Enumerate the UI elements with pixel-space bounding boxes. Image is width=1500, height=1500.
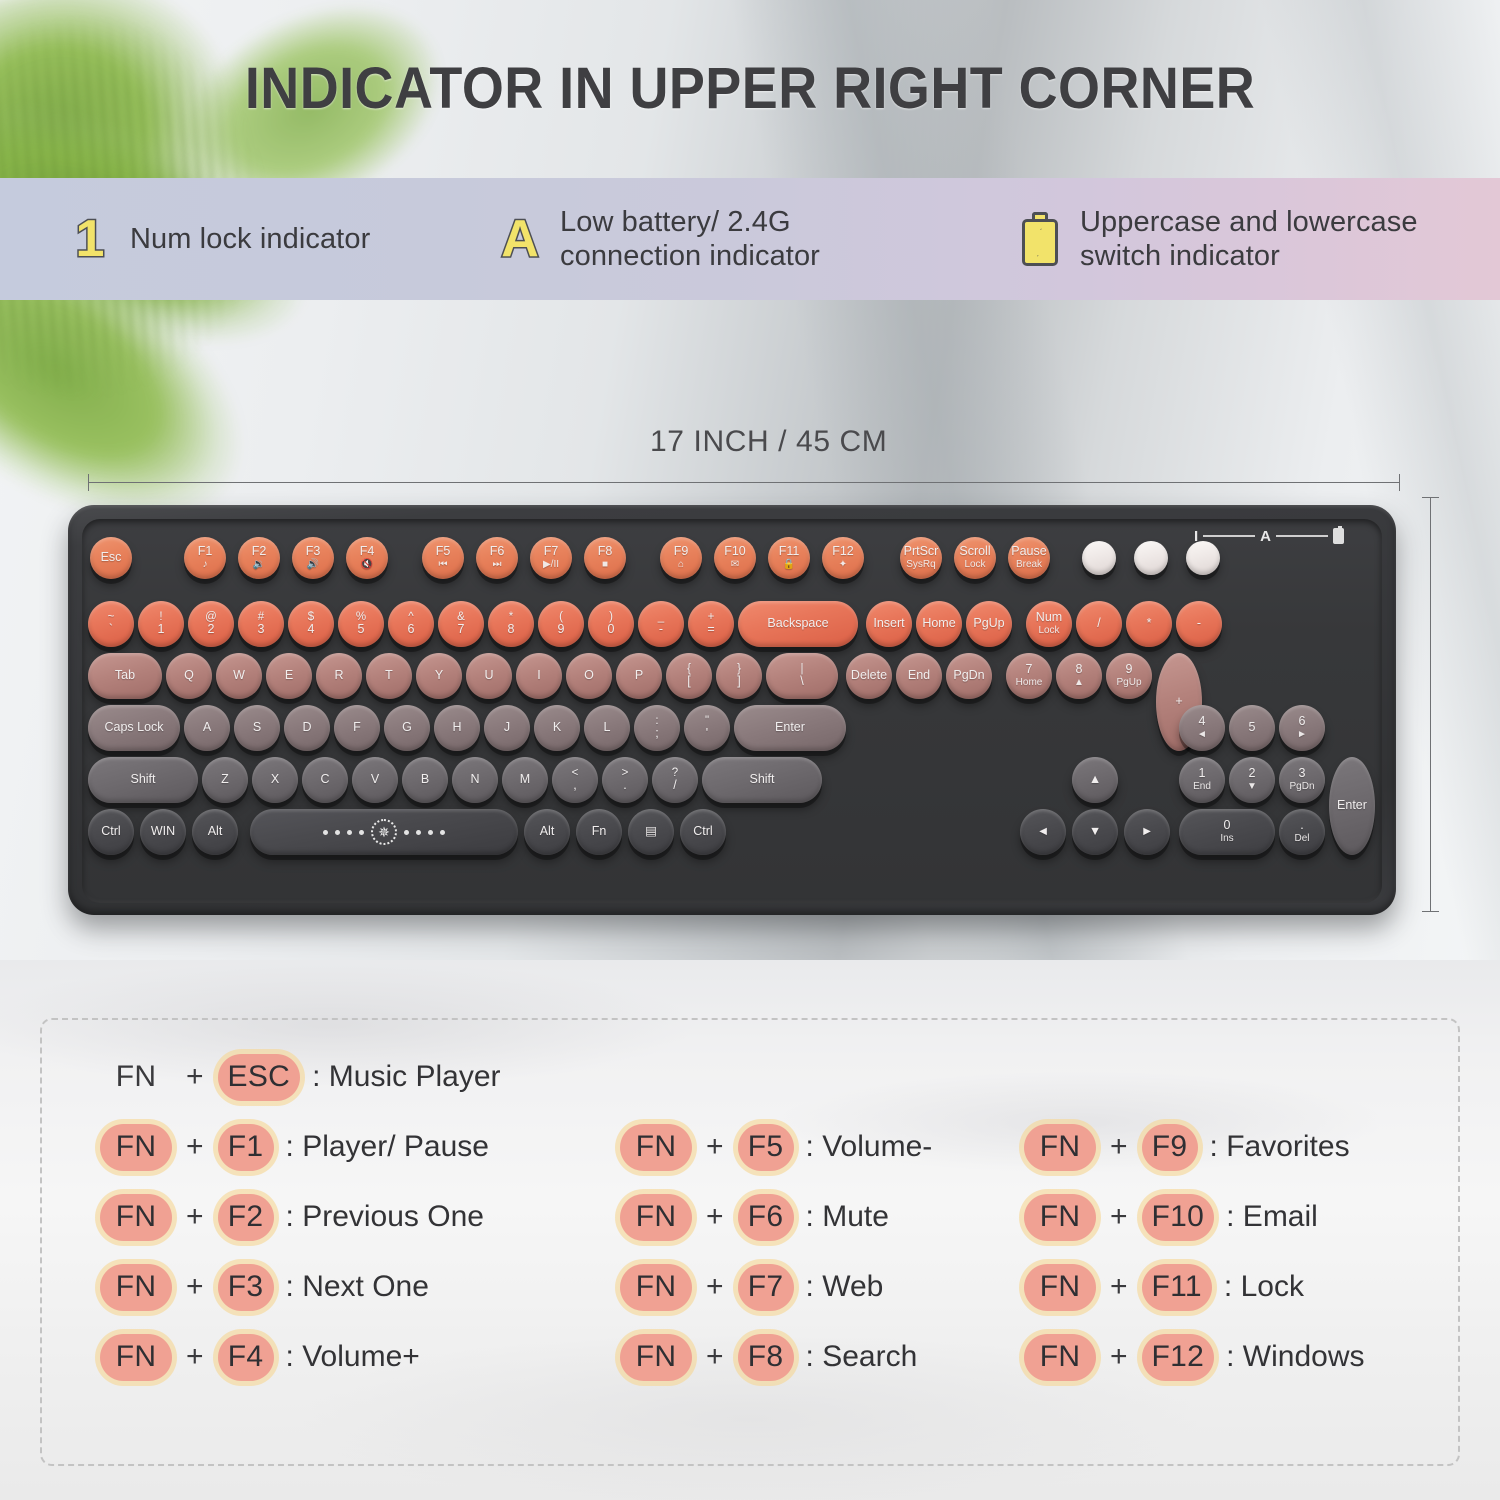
key-r[interactable]: R [316,653,362,699]
key-caps-lock[interactable]: Caps Lock [88,705,180,751]
shortcut-row: FN+F11: Lock [1024,1252,1365,1322]
key-f8[interactable]: F8■ [584,537,626,579]
key-6[interactable]: ^6 [388,601,434,647]
key-label: 4 [308,623,315,637]
key-num[interactable]: NumLock [1026,601,1072,647]
key-enter[interactable]: Enter [734,705,846,751]
key-u[interactable]: U [466,653,512,699]
shortcut-second-key[interactable]: ESC [218,1054,301,1101]
led-indicator-3[interactable] [1186,541,1220,575]
key-sub-legend: 🔉 [253,560,265,571]
key-label: F11 [779,545,800,559]
shortcut-plus-sign: + [706,1340,724,1374]
key-f6[interactable]: F6⏭ [476,537,518,579]
key-f11[interactable]: F11🔒 [768,537,810,579]
key-7[interactable]: &7 [438,601,484,647]
key-f3[interactable]: F3🔊 [292,537,334,579]
key-win[interactable]: WIN [140,809,186,855]
key-numpad-decimal[interactable]: .Del [1279,809,1325,855]
key-label: Shift [749,773,774,787]
brand-emblem-icon: ✵ [371,819,397,845]
key-c[interactable]: C [302,757,348,803]
shortcut-fn-key[interactable]: FN [100,1124,172,1171]
key-sub-legend: ■ [602,560,608,571]
key-sub-legend: Lock [1038,626,1059,637]
key-sub-legend: Lock [964,560,985,571]
key-label: Enter [775,721,805,735]
key-label: 8 [1076,663,1083,677]
led-indicator-2[interactable] [1134,541,1168,575]
key--[interactable]: :; [634,705,680,751]
shortcut-fn-key[interactable]: FN [620,1194,692,1241]
shortcut-fn-key[interactable]: FN [620,1124,692,1171]
key-sub-legend: ► [1297,730,1307,741]
fn-shortcut-panel: FN+ESC: Music PlayerFN+F1: Player/ Pause… [40,1018,1460,1466]
key-pause[interactable]: PauseBreak [1008,537,1050,579]
key-label: N [470,773,479,787]
key-ctrl[interactable]: Ctrl [88,809,134,855]
key-label: H [452,721,461,735]
key--[interactable]: _- [638,601,684,647]
key--[interactable]: <, [552,757,598,803]
key-label: 9 [1126,663,1133,677]
key-b[interactable]: B [402,757,448,803]
key-label: Caps Lock [104,721,163,735]
key-label: End [908,669,930,683]
key-7[interactable]: 7Home [1006,653,1052,699]
shortcut-plus-sign: + [186,1270,204,1304]
key-n[interactable]: N [452,757,498,803]
key-label: ▼ [1089,825,1101,839]
key-sub-legend: ✉ [731,560,739,571]
shortcut-second-key[interactable]: F7 [738,1264,794,1311]
battery-shape [1022,212,1058,266]
key-arrow-left[interactable]: ◄ [1020,809,1066,855]
shortcut-second-key[interactable]: F3 [218,1264,274,1311]
shortcut-row: FN+F8: Search [620,1322,932,1392]
key-label: 0 [608,623,615,637]
key-4[interactable]: $4 [288,601,334,647]
key-x[interactable]: X [252,757,298,803]
key-sub-legend: Del [1294,834,1309,845]
key-o[interactable]: O [566,653,612,699]
key-1[interactable]: 1End [1179,757,1225,803]
key-8[interactable]: *8 [488,601,534,647]
key-f2[interactable]: F2🔉 [238,537,280,579]
key-label: F5 [436,545,451,559]
key-3[interactable]: #3 [238,601,284,647]
key-pgup[interactable]: PgUp [966,601,1012,647]
key-numpad-enter[interactable]: Enter [1329,757,1375,855]
key-label: [ [687,675,690,689]
key-label: F1 [198,545,213,559]
shortcut-plus-sign: + [1110,1130,1128,1164]
key-f5[interactable]: F5⏮ [422,537,464,579]
key-label: Alt [208,825,223,839]
shortcut-row: FN+F12: Windows [1024,1322,1365,1392]
key-label: P [635,669,643,683]
key-sub-legend: ⌂ [678,560,684,571]
key-f10[interactable]: F10✉ [714,537,756,579]
key-label: 9 [558,623,565,637]
key-label: - [659,623,663,637]
key-label: D [302,721,311,735]
key--[interactable]: |\ [766,653,838,699]
letter-a-icon: A [492,213,548,265]
key-home[interactable]: Home [916,601,962,647]
key-k[interactable]: K [534,705,580,751]
key-d[interactable]: D [284,705,330,751]
shortcut-row: FN+F3: Next One [100,1252,501,1322]
shortcut-plus-sign: + [186,1060,204,1094]
key-label: A [203,721,211,735]
key-label: WIN [151,825,175,839]
key-sub-legend: ▲ [1074,678,1084,689]
key-sub-legend: ◄ [1197,730,1207,741]
key-label: F4 [360,545,375,559]
key-label: ' [706,727,708,741]
key-label: V [371,773,379,787]
shortcut-description: : Volume+ [286,1340,420,1374]
key--[interactable]: ~` [88,601,134,647]
key-esc[interactable]: Esc [90,537,132,579]
key-label: Backspace [767,617,828,631]
key-l[interactable]: L [584,705,630,751]
shortcut-fn-key[interactable]: FN [100,1054,172,1101]
battery-bolt-icon [1012,212,1068,266]
shortcut-second-key[interactable]: F12 [1142,1334,1215,1381]
key-label: 5 [1249,721,1256,735]
shortcut-fn-key[interactable]: FN [100,1264,172,1311]
key-label: S [253,721,261,735]
key-m[interactable]: M [502,757,548,803]
key-sub-legend: ⏭ [493,560,502,571]
shortcut-plus-sign: + [186,1130,204,1164]
key-f9[interactable]: F9⌂ [660,537,702,579]
shortcut-plus-sign: + [186,1340,204,1374]
key-label: M [520,773,530,787]
key-prtscr[interactable]: PrtScrSysRq [900,537,942,579]
key-label: U [484,669,493,683]
shortcut-plus-sign: + [706,1130,724,1164]
key-label: Z [221,773,229,787]
key-label: L [604,721,611,735]
key-label: PgDn [953,669,984,683]
key-sub-legend: 🔊 [307,560,319,571]
key-tab[interactable]: Tab [88,653,162,699]
key-scroll[interactable]: ScrollLock [954,537,996,579]
key--[interactable]: "' [684,705,730,751]
key-label: Num [1036,611,1062,625]
key-label: Alt [540,825,555,839]
legend-item-label: Uppercase and lowercase switch indicator [1080,205,1418,273]
shortcut-fn-key[interactable]: FN [1024,1334,1096,1381]
key-f7[interactable]: F7▶/II [530,537,572,579]
shortcut-plus-sign: + [1110,1200,1128,1234]
shortcut-second-key[interactable]: F6 [738,1194,794,1241]
shortcut-fn-key[interactable]: FN [1024,1264,1096,1311]
key-label: F2 [252,545,267,559]
key-sub-legend: ⏮ [439,560,448,571]
key-5[interactable]: 5 [1229,705,1275,751]
shortcut-description: : Lock [1224,1270,1304,1304]
key-label: F10 [724,545,746,559]
key-2[interactable]: @2 [188,601,234,647]
key-j[interactable]: J [484,705,530,751]
key-label: W [233,669,245,683]
key-label: Tab [115,669,135,683]
key--[interactable]: {[ [666,653,712,699]
key-8[interactable]: 8▲ [1056,653,1102,699]
shortcut-description: : Web [806,1270,884,1304]
shortcut-second-key[interactable]: F4 [218,1334,274,1381]
shortcut-second-key[interactable]: F8 [738,1334,794,1381]
key-label: Enter [1337,799,1367,813]
key-arrow-up[interactable]: ▲ [1072,757,1118,803]
key--[interactable]: * [1126,601,1172,647]
key-label: PgUp [973,617,1004,631]
key-arrow-right[interactable]: ► [1124,809,1170,855]
indicator-mark-a: A [1260,528,1271,545]
key-2[interactable]: 2▼ [1229,757,1275,803]
key-fn[interactable]: Fn [576,809,622,855]
num-lock-1-icon: 1 [62,213,118,265]
key-label: ; [655,727,658,741]
key-e[interactable]: E [266,653,312,699]
key-sub-legend: ♪ [203,560,208,571]
key--[interactable]: += [688,601,734,647]
shortcut-plus-sign: + [706,1200,724,1234]
key-label: ▲ [1089,773,1101,787]
key-backspace[interactable]: Backspace [738,601,858,647]
shortcut-column-2: FN+F5: Volume-FN+F6: MuteFN+F7: WebFN+F8… [620,1112,932,1392]
shortcut-fn-key[interactable]: FN [100,1194,172,1241]
key-label: ` [109,623,113,637]
key-y[interactable]: Y [416,653,462,699]
legend-item-label: Low battery/ 2.4G connection indicator [560,205,820,273]
key-label: 7 [1026,663,1033,677]
key-label: Pause [1011,545,1046,559]
key-p[interactable]: P [616,653,662,699]
key-end[interactable]: End [896,653,942,699]
key-label: 0 [1224,819,1231,833]
key--[interactable]: ?/ [652,757,698,803]
shortcut-plus-sign: + [1110,1270,1128,1304]
key-label: Home [922,617,955,631]
key-label: . [1300,819,1303,833]
key-label: C [320,773,329,787]
key-label: 7 [458,623,465,637]
width-dimension-label: 17 INCH / 45 CM [650,425,887,459]
key-label: F12 [832,545,854,559]
key-f4[interactable]: F4🔇 [346,537,388,579]
keyboard-plate: I A EscF1♪F2🔉F3🔊F4🔇F5⏮F6⏭F7▶/IIF8■F9⌂F10… [82,519,1382,903]
key-label: , [573,779,576,793]
key-sub-legend: ▶/II [543,560,559,571]
shortcut-second-key[interactable]: F2 [218,1194,274,1241]
spacebar-dots-right [404,830,445,835]
key-alt[interactable]: Alt [524,809,570,855]
shortcut-description: : Music Player [312,1060,500,1094]
shortcut-row: FN+F1: Player/ Pause [100,1112,501,1182]
shortcut-plus-sign: + [1110,1340,1128,1374]
key-v[interactable]: V [352,757,398,803]
key-a[interactable]: A [184,705,230,751]
shortcut-column-1: FN+ESC: Music PlayerFN+F1: Player/ Pause… [100,1042,501,1392]
key-numpad-0[interactable]: 0Ins [1179,809,1275,855]
key-0[interactable]: )0 [588,601,634,647]
key-delete[interactable]: Delete [846,653,892,699]
shortcut-row: FN+F4: Volume+ [100,1322,501,1392]
key-label: E [285,669,293,683]
shortcut-fn-key[interactable]: FN [100,1334,172,1381]
key-label: B [421,773,429,787]
key-shift[interactable]: Shift [88,757,198,803]
shortcut-row: FN+F7: Web [620,1252,932,1322]
key-label: ▤ [645,825,657,839]
key-label: Scroll [959,545,990,559]
key-5[interactable]: %5 [338,601,384,647]
key-6[interactable]: 6► [1279,705,1325,751]
key-label: F3 [306,545,321,559]
key-ctrl[interactable]: Ctrl [680,809,726,855]
key-q[interactable]: Q [166,653,212,699]
key-alt[interactable]: Alt [192,809,238,855]
key--[interactable]: >. [602,757,648,803]
shortcut-column-3: FN+F9: FavoritesFN+F10: EmailFN+F11: Loc… [1024,1112,1365,1392]
key-sub-legend: 🔒 [783,560,795,571]
key-1[interactable]: !1 [138,601,184,647]
key-g[interactable]: G [384,705,430,751]
key-s[interactable]: S [234,705,280,751]
key--[interactable]: ▤ [628,809,674,855]
key-h[interactable]: H [434,705,480,751]
key-label: X [271,773,279,787]
key-label: Fn [592,825,607,839]
key-label: ] [737,675,740,689]
indicator-connector-line [1203,535,1255,537]
key--[interactable]: / [1076,601,1122,647]
key-sub-legend: Break [1016,560,1042,571]
spacebar-dots-left [323,830,364,835]
shortcut-second-key[interactable]: F10 [1142,1194,1215,1241]
key-label: T [385,669,393,683]
key-sub-legend: 🔇 [361,560,373,571]
key-f12[interactable]: F12✦ [822,537,864,579]
key-label: F9 [674,545,689,559]
shortcut-description: : Next One [286,1270,429,1304]
key-label: 8 [508,623,515,637]
key-label: I [537,669,540,683]
key-label: K [553,721,561,735]
shortcut-plus-sign: + [706,1270,724,1304]
shortcut-second-key[interactable]: F9 [1142,1124,1198,1171]
shortcut-description: : Mute [806,1200,889,1234]
legend-item-case-switch: Uppercase and lowercase switch indicator [1012,205,1418,273]
key-label: / [1097,617,1100,631]
key-label: ► [1141,825,1153,839]
shortcut-fn-key[interactable]: FN [1024,1124,1096,1171]
shortcut-row: FN+F6: Mute [620,1182,932,1252]
key-label: G [402,721,412,735]
width-dimension-line [88,482,1400,483]
shortcut-second-key[interactable]: F5 [738,1124,794,1171]
shortcut-description: : Windows [1226,1340,1364,1374]
key-label: Shift [130,773,155,787]
key-f1[interactable]: F1♪ [184,537,226,579]
key-label: 2 [1249,767,1256,781]
keyboard-indicator-marks: I A [1194,525,1344,547]
shortcut-second-key[interactable]: F1 [218,1124,274,1171]
shortcut-description: : Email [1226,1200,1318,1234]
led-indicator-1[interactable] [1082,541,1116,575]
key-label: Insert [873,617,904,631]
battery-icon [1333,528,1344,544]
key-label: ◄ [1037,825,1049,839]
key-t[interactable]: T [366,653,412,699]
key-label: Ctrl [101,825,120,839]
key-label: + [1175,695,1182,709]
key-label: Y [435,669,443,683]
key-label: * [1147,617,1152,631]
key-label: Q [184,669,194,683]
shortcut-row: FN+F9: Favorites [1024,1112,1365,1182]
key-9[interactable]: 9PgUp [1106,653,1152,699]
shortcut-row: FN+F5: Volume- [620,1112,932,1182]
key-f[interactable]: F [334,705,380,751]
key-sub-legend: ▼ [1247,782,1257,793]
key-insert[interactable]: Insert [866,601,912,647]
key-arrow-down[interactable]: ▼ [1072,809,1118,855]
key-label: O [584,669,594,683]
key-label: F8 [598,545,613,559]
key-space[interactable]: ✵ [250,809,518,855]
key-3[interactable]: 3PgDn [1279,757,1325,803]
key-4[interactable]: 4◄ [1179,705,1225,751]
key--[interactable]: }] [716,653,762,699]
key-z[interactable]: Z [202,757,248,803]
key-sub-legend: Home [1016,678,1043,689]
key-sub-legend: End [1193,782,1211,793]
legend-glyph: A [501,213,539,265]
shortcut-description: : Volume- [806,1130,933,1164]
key-w[interactable]: W [216,653,262,699]
key-label: J [504,721,510,735]
key-i[interactable]: I [516,653,562,699]
key-label: 1 [158,623,165,637]
key-label: PrtScr [904,545,939,559]
shortcut-description: : Favorites [1210,1130,1350,1164]
key-label: . [623,779,626,793]
key-sub-legend: PgDn [1289,782,1314,793]
key-pgdn[interactable]: PgDn [946,653,992,699]
shortcut-second-key[interactable]: F11 [1142,1264,1212,1311]
height-dimension-line [1430,497,1431,912]
shortcut-fn-key[interactable]: FN [620,1264,692,1311]
shortcut-fn-key[interactable]: FN [620,1334,692,1381]
legend-item-low-battery: A Low battery/ 2.4G connection indicator [492,205,1012,273]
shortcut-row: FN+F10: Email [1024,1182,1365,1252]
key-9[interactable]: (9 [538,601,584,647]
shortcut-description: : Player/ Pause [286,1130,489,1164]
shortcut-fn-key[interactable]: FN [1024,1194,1096,1241]
key-sub-legend: PgUp [1116,678,1141,689]
key-label: 4 [1199,715,1206,729]
legend-item-num-lock: 1 Num lock indicator [62,213,492,265]
shortcut-description: : Previous One [286,1200,484,1234]
key--[interactable]: - [1176,601,1222,647]
key-shift[interactable]: Shift [702,757,822,803]
